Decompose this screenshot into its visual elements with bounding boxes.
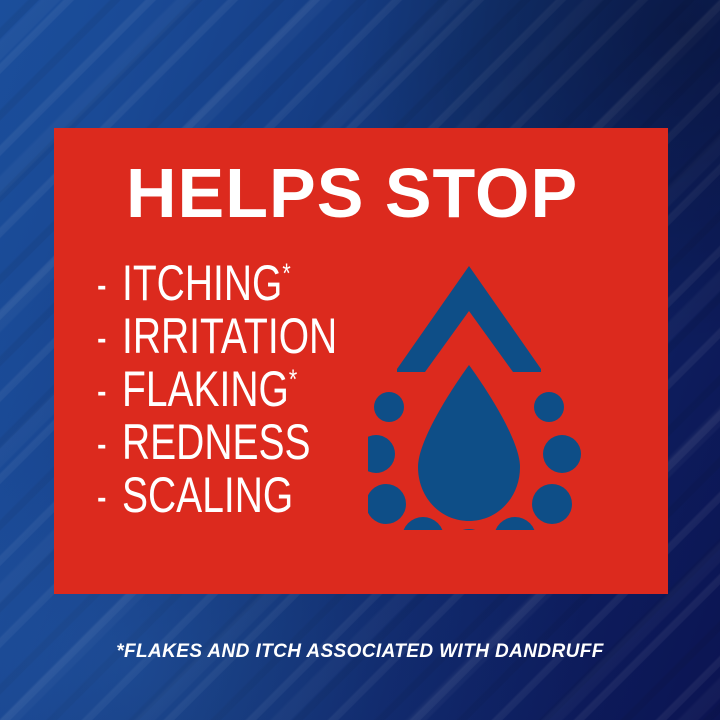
footnote-marker: * <box>282 257 290 288</box>
list-item: - ITCHING* <box>97 258 397 311</box>
footnote-marker: * <box>289 363 297 394</box>
chevron-icon <box>397 266 541 372</box>
dot <box>543 435 581 473</box>
benefits-list: - ITCHING* - IRRITATION - FLAKING* - RED… <box>97 258 397 523</box>
dot <box>402 517 444 530</box>
list-item: - FLAKING* <box>97 364 397 417</box>
dot <box>448 529 490 530</box>
benefit-label: SCALING <box>122 470 293 520</box>
water-droplet-icon <box>368 255 583 530</box>
droplet-shape <box>418 365 520 521</box>
benefit-label: FLAKING* <box>122 364 297 414</box>
bullet-dash-icon: - <box>97 367 113 413</box>
benefit-text: ITCHING <box>122 255 282 311</box>
list-item: - SCALING <box>97 470 397 523</box>
benefit-text: IRRITATION <box>122 308 337 364</box>
footnote-text: *FLAKES AND ITCH ASSOCIATED WITH DANDRUF… <box>0 640 720 664</box>
bullet-dash-icon: - <box>97 314 113 360</box>
benefit-label: ITCHING* <box>122 258 291 308</box>
list-item: - REDNESS <box>97 417 397 470</box>
benefit-text: REDNESS <box>122 414 311 470</box>
list-item: - IRRITATION <box>97 311 397 364</box>
dot <box>532 484 572 524</box>
poster-canvas: HELPS STOP - ITCHING* - IRRITATION - FLA… <box>0 0 720 720</box>
bullet-dash-icon: - <box>97 420 113 466</box>
bullet-dash-icon: - <box>97 473 113 519</box>
dot <box>368 484 406 524</box>
benefit-text: FLAKING <box>122 361 289 417</box>
dot <box>494 517 536 530</box>
benefit-label: REDNESS <box>122 417 311 467</box>
dot <box>374 392 404 422</box>
page-title: HELPS STOP <box>126 158 578 228</box>
benefit-text: SCALING <box>122 467 293 523</box>
benefit-label: IRRITATION <box>122 311 337 361</box>
dot <box>534 392 564 422</box>
bullet-dash-icon: - <box>97 261 113 307</box>
dot <box>368 435 395 473</box>
